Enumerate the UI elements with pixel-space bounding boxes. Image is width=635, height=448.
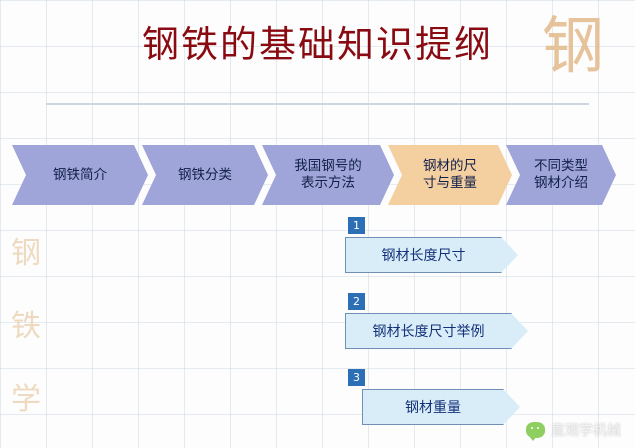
watermark-char-2: 铁	[4, 305, 48, 349]
sub-item-3-label: 钢材重量	[405, 397, 461, 417]
sub-item-2[interactable]: 钢材长度尺寸举例	[345, 313, 512, 349]
watermark-char-1: 钢	[4, 232, 48, 276]
chevron-step-2-label: 钢铁分类	[172, 167, 238, 184]
chevron-step-3[interactable]: 我国钢号的 表示方法	[262, 145, 394, 205]
sub-item-badge-3: 3	[348, 369, 365, 386]
chevron-step-4[interactable]: 钢材的尺 寸与重量	[388, 145, 512, 205]
chevron-step-1-label: 钢铁简介	[47, 167, 113, 184]
chevron-step-2[interactable]: 钢铁分类	[142, 145, 268, 205]
watermark-char-3: 学	[4, 378, 48, 422]
footer-watermark-text: 直观学机械	[551, 420, 621, 440]
sub-item-2-label: 钢材长度尺寸举例	[373, 321, 485, 341]
chevron-step-3-label-line1: 我国钢号的	[288, 158, 368, 175]
chevron-step-4-label-line1: 钢材的尺	[417, 158, 483, 175]
sub-item-3[interactable]: 钢材重量	[362, 389, 504, 425]
page-title: 钢铁的基础知识提纲	[0, 14, 635, 68]
sub-item-badge-1: 1	[348, 217, 365, 234]
title-divider	[46, 103, 589, 105]
sub-item-1-label: 钢材长度尺寸	[382, 245, 466, 265]
chevron-step-5-label-line1: 不同类型	[528, 158, 594, 175]
slide-canvas: 钢 钢铁的基础知识提纲 钢 铁 学 钢铁简介 钢铁分类 我国钢号的 表示方法 钢…	[0, 0, 635, 448]
sub-item-badge-2: 2	[348, 293, 365, 310]
wechat-icon	[526, 422, 545, 438]
chevron-step-5[interactable]: 不同类型 钢材介绍	[506, 145, 616, 205]
chevron-step-3-label-line2: 表示方法	[288, 175, 368, 192]
footer-watermark: 直观学机械	[526, 420, 621, 440]
chevron-step-5-label-line2: 钢材介绍	[528, 175, 594, 192]
chevron-step-4-label-line2: 寸与重量	[417, 175, 483, 192]
process-chevron-band: 钢铁简介 钢铁分类 我国钢号的 表示方法 钢材的尺 寸与重量 不同类型 钢材介绍	[12, 145, 616, 205]
sub-item-1[interactable]: 钢材长度尺寸	[345, 237, 502, 273]
chevron-step-1[interactable]: 钢铁简介	[12, 145, 148, 205]
